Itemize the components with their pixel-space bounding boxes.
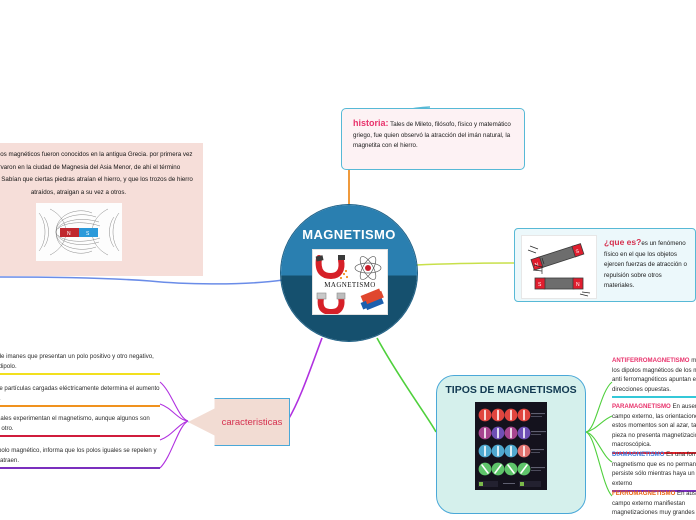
caracteristica-item-1-rule [0, 373, 160, 375]
caracteristica-item-3-text: Todos los materiales experimentan el mag… [0, 414, 160, 433]
caracteristica-item-3-rule [0, 435, 160, 437]
tipo-item-4-keyword: FERROMAGNETISMO [612, 490, 675, 497]
caracteristica-item-4[interactable]: La propiedad dipolo magnético, informa q… [0, 446, 160, 469]
tipo-item-3-keyword: DIAMAGNETISMO [612, 451, 664, 458]
que-es-text: es un fenómeno físico en el que los obje… [604, 240, 687, 289]
svg-text:N: N [576, 282, 580, 288]
caracteristica-item-2-rule [0, 405, 160, 407]
caracteristica-item-1[interactable]: Es la atracción de imanes que presentan … [0, 352, 160, 375]
caracteristica-item-2[interactable]: El movimiento de partículas cargadas elé… [0, 384, 160, 407]
tipo-item-2[interactable]: PARAMAGNETISMO En ausencia de campo exte… [612, 402, 696, 454]
tipos-de-magnetismo-diagram-image [475, 402, 547, 490]
caracteristica-item-1-text: Es la atracción de imanes que presentan … [0, 352, 160, 371]
tipos-de-magnetismo-node[interactable]: TIPOS DE MAGNETISMOS [436, 375, 586, 514]
caracteristica-item-4-rule [0, 467, 160, 469]
central-node-magnetismo[interactable]: MAGNETISMO [281, 205, 417, 341]
historia-body: historia: Tales de Mileto, filósofo, fís… [353, 118, 513, 152]
tipo-item-2-text: PARAMAGNETISMO En ausencia de campo exte… [612, 402, 696, 450]
caracteristica-item-3[interactable]: Todos los materiales experimentan el mag… [0, 414, 160, 437]
svg-text:N: N [67, 231, 71, 237]
caracteristica-item-2-text: El movimiento de partículas cargadas elé… [0, 384, 160, 403]
tipo-item-1[interactable]: ANTIFERROMAGNETISMO magnético, los dipol… [612, 356, 696, 398]
tipo-item-2-keyword: PARAMAGNETISMO [612, 403, 671, 410]
historia-left-text: Los fenómenos magnéticos fueron conocido… [0, 149, 195, 199]
tipos-title: TIPOS DE MAGNETISMOS [437, 384, 585, 396]
magnetic-field-lines-bar-magnet-image: N S [36, 203, 122, 261]
tipo-item-4-text: FERROMAGNETISMO En ausencia de campo ext… [612, 489, 696, 518]
two-bar-magnets-repulsion-image: N S S N [521, 235, 597, 299]
caracteristica-item-4-text: La propiedad dipolo magnético, informa q… [0, 446, 160, 465]
central-node-title: MAGNETISMO [281, 227, 417, 242]
tipo-item-3[interactable]: DIAMAGNETISMO Es una forma de magnetismo… [612, 450, 696, 492]
historia-keyword: historia: [353, 118, 389, 128]
tipo-item-3-text: DIAMAGNETISMO Es una forma de magnetismo… [612, 450, 696, 488]
que-es-box[interactable]: N S S N ¿que e [514, 228, 696, 302]
que-es-keyword: ¿que es? [604, 237, 641, 247]
tipo-item-1-text: ANTIFERROMAGNETISMO magnético, los dipol… [612, 356, 696, 394]
magnetismo-collage-image: MAGNETISMO [312, 249, 388, 315]
historia-left-panel: Los fenómenos magnéticos fueron conocido… [0, 143, 203, 276]
svg-text:MAGNETISMO: MAGNETISMO [324, 281, 375, 289]
tipo-item-4[interactable]: FERROMAGNETISMO En ausencia de campo ext… [612, 489, 696, 520]
historia-box[interactable]: historia: Tales de Mileto, filósofo, fís… [341, 108, 525, 170]
tipo-item-1-keyword: ANTIFERROMAGNETISMO [612, 357, 690, 364]
mindmap-canvas: Los fenómenos magnéticos fueron conocido… [0, 0, 696, 520]
tipo-item-1-rule [612, 396, 696, 398]
que-es-body: ¿que es?es un fenómeno físico en el que … [604, 235, 689, 295]
caracteristicas-node[interactable]: caracteristicas [188, 398, 290, 446]
caracteristicas-label: caracteristicas [215, 399, 289, 445]
